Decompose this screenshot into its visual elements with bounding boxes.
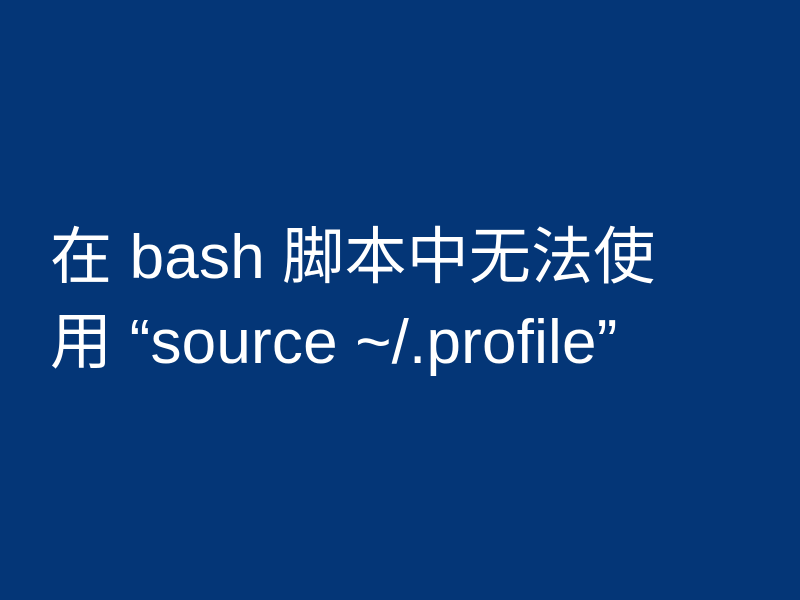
- title-card: 在 bash 脚本中无法使用 “source ~/.profile”: [0, 0, 800, 600]
- headline-text: 在 bash 脚本中无法使用 “source ~/.profile”: [50, 215, 670, 385]
